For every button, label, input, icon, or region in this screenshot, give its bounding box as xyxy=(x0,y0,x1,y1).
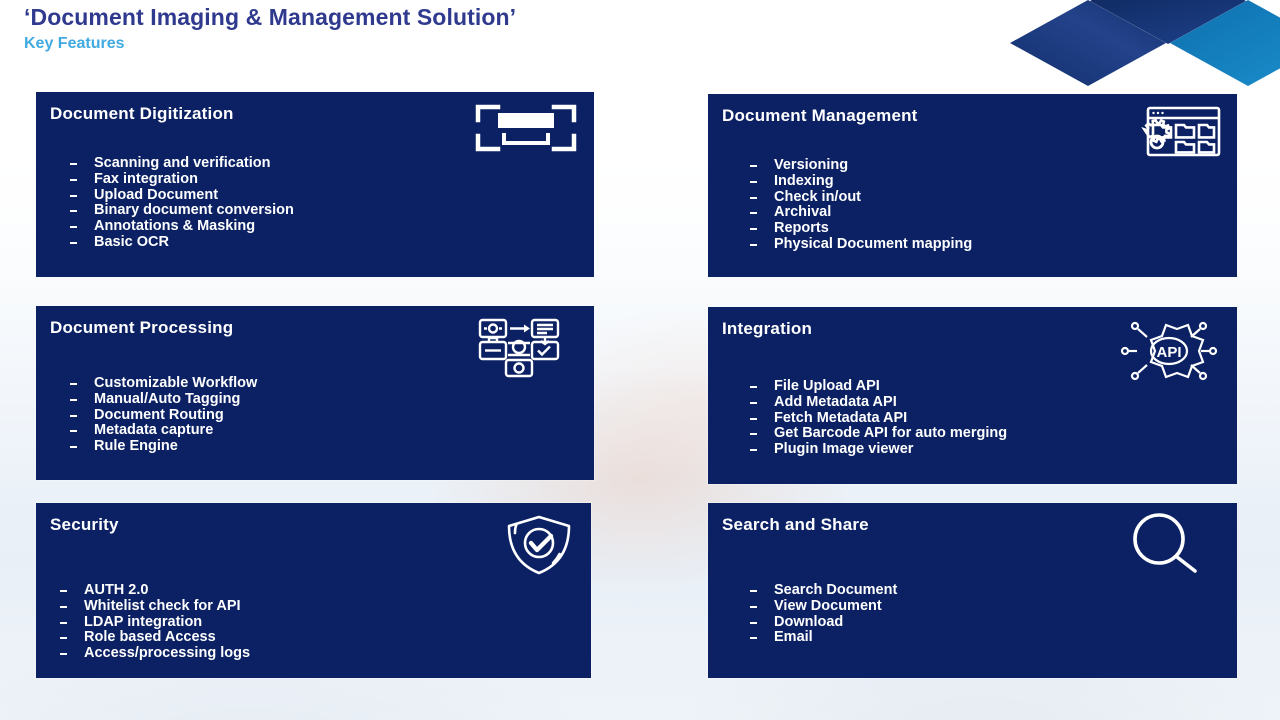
card-header: Document Processing xyxy=(36,306,594,364)
list-item: Role based Access xyxy=(56,630,577,646)
list-item: Get Barcode API for auto merging xyxy=(746,426,1223,442)
card-header: Search and Share xyxy=(708,503,1237,561)
folder-window-gear-icon xyxy=(1131,104,1223,160)
card-title: Document Digitization xyxy=(50,102,234,126)
list-item: Customizable Workflow xyxy=(66,376,580,392)
document-scanner-icon xyxy=(472,102,580,154)
list-item: Check in/out xyxy=(746,190,1223,206)
feature-card-document-digitization[interactable]: Document Digitization Scanning and verif… xyxy=(36,92,594,277)
card-header: Integration xyxy=(708,307,1237,365)
list-item: Add Metadata API xyxy=(746,395,1223,411)
api-hub-icon: API xyxy=(1115,317,1223,385)
card-title: Integration xyxy=(722,317,812,341)
list-item: Upload Document xyxy=(66,188,580,204)
list-item: File Upload API xyxy=(746,379,1223,395)
list-item: Indexing xyxy=(746,174,1223,190)
list-item: Whitelist check for API xyxy=(56,599,577,615)
list-item: Plugin Image viewer xyxy=(746,442,1223,458)
list-item: Archival xyxy=(746,205,1223,221)
decorative-diamonds xyxy=(980,0,1280,98)
list-item: Reports xyxy=(746,221,1223,237)
card-bullet-list: Scanning and verification Fax integratio… xyxy=(36,150,594,251)
feature-card-document-processing[interactable]: Document Processing xyxy=(36,306,594,480)
list-item: Search Document xyxy=(746,583,1223,599)
list-item: Physical Document mapping xyxy=(746,237,1223,253)
shield-check-icon xyxy=(501,513,577,577)
page-subtitle: Key Features xyxy=(24,33,516,55)
page-title: ‘Document Imaging & Management Solution’ xyxy=(24,2,516,32)
card-header: Document Management xyxy=(708,94,1237,152)
list-item: AUTH 2.0 xyxy=(56,583,577,599)
card-bullet-list: Versioning Indexing Check in/out Archiva… xyxy=(708,152,1237,253)
feature-card-document-management[interactable]: Document Management xyxy=(708,94,1237,277)
list-item: Document Routing xyxy=(66,408,580,424)
api-icon-label: API xyxy=(1156,344,1181,361)
list-item: Manual/Auto Tagging xyxy=(66,392,580,408)
list-item: Email xyxy=(746,630,1223,646)
card-header: Document Digitization xyxy=(36,92,594,150)
list-item: View Document xyxy=(746,599,1223,615)
list-item: Metadata capture xyxy=(66,423,580,439)
list-item: Annotations & Masking xyxy=(66,219,580,235)
feature-card-grid: Document Digitization Scanning and verif… xyxy=(0,0,1280,720)
card-title: Security xyxy=(50,513,119,537)
list-item: LDAP integration xyxy=(56,615,577,631)
list-item: Fetch Metadata API xyxy=(746,411,1223,427)
list-item: Scanning and verification xyxy=(66,156,580,172)
slide-header: ‘Document Imaging & Management Solution’… xyxy=(24,2,516,55)
workflow-diagram-icon xyxy=(458,316,580,378)
list-item: Rule Engine xyxy=(66,439,580,455)
list-item: Access/processing logs xyxy=(56,646,577,662)
list-item: Fax integration xyxy=(66,172,580,188)
list-item: Binary document conversion xyxy=(66,203,580,219)
list-item: Basic OCR xyxy=(66,235,580,251)
card-title: Document Management xyxy=(722,104,918,128)
feature-card-search-and-share[interactable]: Search and Share Search Document View Do… xyxy=(708,503,1237,678)
feature-card-security[interactable]: Security AUTH 2.0 Whitelist check for AP… xyxy=(36,503,591,678)
list-item: Versioning xyxy=(746,158,1223,174)
card-title: Search and Share xyxy=(722,513,869,537)
card-bullet-list: Customizable Workflow Manual/Auto Taggin… xyxy=(36,364,594,455)
magnifier-icon xyxy=(1115,513,1223,575)
card-header: Security xyxy=(36,503,591,561)
list-item: Download xyxy=(746,615,1223,631)
feature-card-integration[interactable]: Integration xyxy=(708,307,1237,484)
card-bullet-list: File Upload API Add Metadata API Fetch M… xyxy=(708,365,1237,458)
card-title: Document Processing xyxy=(50,316,233,340)
